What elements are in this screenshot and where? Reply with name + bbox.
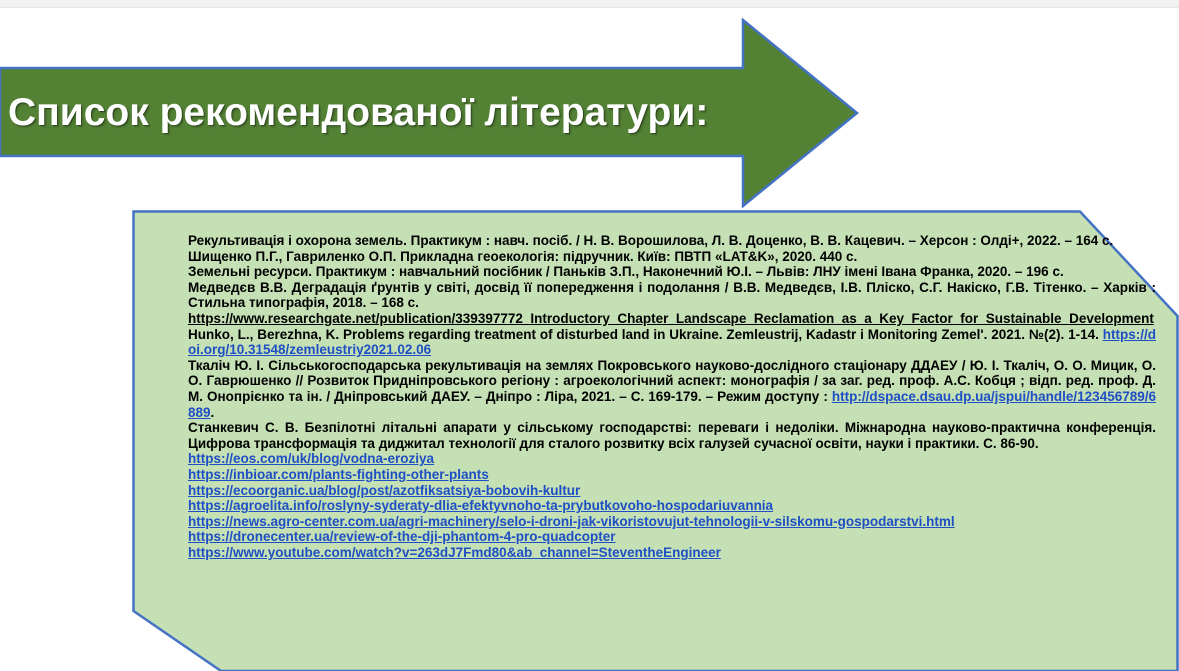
reference-item: Земельні ресурси. Практикум : навчальний…	[188, 264, 1156, 280]
reference-item: Рекультивація і охорона земель. Практику…	[188, 233, 1156, 249]
dronecenter-link[interactable]: https://dronecenter.ua/review-of-the-dji…	[188, 529, 616, 544]
list-item[interactable]: https://eos.com/uk/blog/vodna-eroziya	[188, 451, 1156, 467]
inbioar-link[interactable]: https://inbioar.com/plants-fighting-othe…	[188, 467, 489, 482]
reference-item: Станкевич С. В. Безпілотні літальні апар…	[188, 420, 1156, 451]
reference-item: Ткаліч Ю. І. Сільськогосподарська рекуль…	[188, 358, 1156, 420]
right-arrow-shape-icon	[0, 18, 860, 208]
list-item[interactable]: https://agroelita.info/roslyny-syderaty-…	[188, 498, 1156, 514]
eos-link[interactable]: https://eos.com/uk/blog/vodna-eroziya	[188, 451, 434, 466]
slide-canvas: Список рекомендованої літератури: Рекуль…	[0, 0, 1179, 671]
youtube-link[interactable]: https://www.youtube.com/watch?v=263dJ7Fm…	[188, 545, 721, 560]
reference-item: Hunko, L., Berezhna, K. Problems regardi…	[188, 327, 1156, 358]
references-panel: Рекультивація і охорона земель. Практику…	[132, 210, 1179, 671]
list-item[interactable]: https://news.agro-center.com.ua/agri-mac…	[188, 514, 1156, 530]
list-item[interactable]: https://dronecenter.ua/review-of-the-dji…	[188, 529, 1156, 545]
title-banner: Список рекомендованої літератури:	[0, 18, 860, 208]
reference-item-link[interactable]: https://www.researchgate.net/publication…	[188, 311, 1156, 327]
reference-item: Медведєв В.В. Деградація ґрунтів у світі…	[188, 280, 1156, 311]
list-item[interactable]: https://inbioar.com/plants-fighting-othe…	[188, 467, 1156, 483]
ecoorganic-link[interactable]: https://ecoorganic.ua/blog/post/azotfiks…	[188, 483, 580, 498]
reference-text: Hunko, L., Berezhna, K. Problems regardi…	[188, 327, 1103, 342]
agroelita-link[interactable]: https://agroelita.info/roslyny-syderaty-…	[188, 498, 773, 513]
reference-item: Шищенко П.Г., Гавриленко О.П. Прикладна …	[188, 249, 1156, 265]
list-item[interactable]: https://ecoorganic.ua/blog/post/azotfiks…	[188, 483, 1156, 499]
list-item[interactable]: https://www.youtube.com/watch?v=263dJ7Fm…	[188, 545, 1156, 561]
agro-center-link[interactable]: https://news.agro-center.com.ua/agri-mac…	[188, 514, 955, 529]
researchgate-link[interactable]: https://www.researchgate.net/publication…	[188, 311, 1154, 326]
url-link-list: https://eos.com/uk/blog/vodna-eroziya ht…	[188, 451, 1156, 560]
references-list: Рекультивація і охорона земель. Практику…	[188, 233, 1156, 560]
window-top-strip	[0, 0, 1179, 8]
reference-text-suffix: .	[211, 405, 215, 420]
